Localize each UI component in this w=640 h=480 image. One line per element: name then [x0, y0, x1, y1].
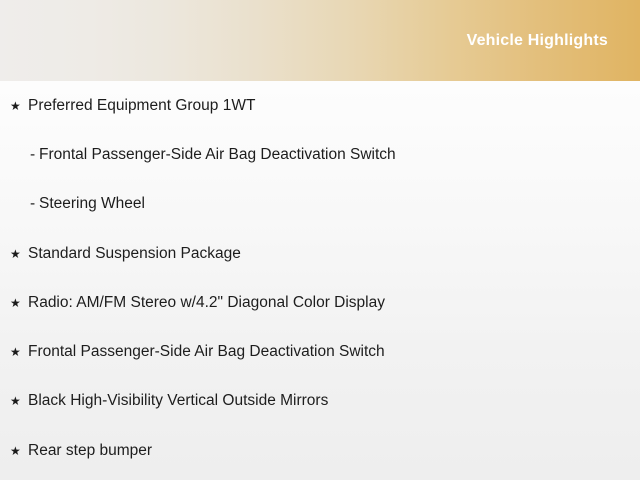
- star-bullet-icon: ★: [10, 248, 24, 260]
- sub-item-text: Steering Wheel: [39, 195, 145, 212]
- list-item: ★Radio: AM/FM Stereo w/4.2" Diagonal Col…: [0, 278, 640, 327]
- vehicle-highlights-list: ★Preferred Equipment Group 1WT-Frontal P…: [0, 81, 640, 475]
- sub-item-text: Frontal Passenger-Side Air Bag Deactivat…: [39, 146, 396, 163]
- list-item: ★Preferred Equipment Group 1WT: [0, 81, 640, 130]
- list-item-label: Frontal Passenger-Side Air Bag Deactivat…: [0, 342, 385, 362]
- list-item: ★Rear step bumper: [0, 426, 640, 475]
- list-item: -Frontal Passenger-Side Air Bag Deactiva…: [0, 130, 640, 179]
- page-title: Vehicle Highlights: [467, 31, 608, 50]
- list-item: ★Black High-Visibility Vertical Outside …: [0, 377, 640, 426]
- list-item-label: Standard Suspension Package: [0, 244, 241, 264]
- list-item-label: Preferred Equipment Group 1WT: [0, 96, 255, 116]
- list-item: -Steering Wheel: [0, 180, 640, 229]
- list-item-label: Radio: AM/FM Stereo w/4.2" Diagonal Colo…: [0, 293, 385, 313]
- panel-header: Vehicle Highlights: [0, 0, 640, 81]
- star-bullet-icon: ★: [10, 346, 24, 358]
- list-item: ★Frontal Passenger-Side Air Bag Deactiva…: [0, 327, 640, 376]
- star-bullet-icon: ★: [10, 395, 24, 407]
- list-item-label: -Frontal Passenger-Side Air Bag Deactiva…: [0, 145, 396, 165]
- list-item-label: -Steering Wheel: [0, 194, 145, 214]
- star-bullet-icon: ★: [10, 100, 24, 112]
- star-bullet-icon: ★: [10, 445, 24, 457]
- star-bullet-icon: ★: [10, 297, 24, 309]
- list-item: ★Standard Suspension Package: [0, 229, 640, 278]
- sub-item-dash: -: [30, 194, 39, 214]
- vehicle-highlights-panel: Vehicle Highlights ★Preferred Equipment …: [0, 0, 640, 480]
- list-item-label: Black High-Visibility Vertical Outside M…: [0, 391, 328, 411]
- sub-item-dash: -: [30, 145, 39, 165]
